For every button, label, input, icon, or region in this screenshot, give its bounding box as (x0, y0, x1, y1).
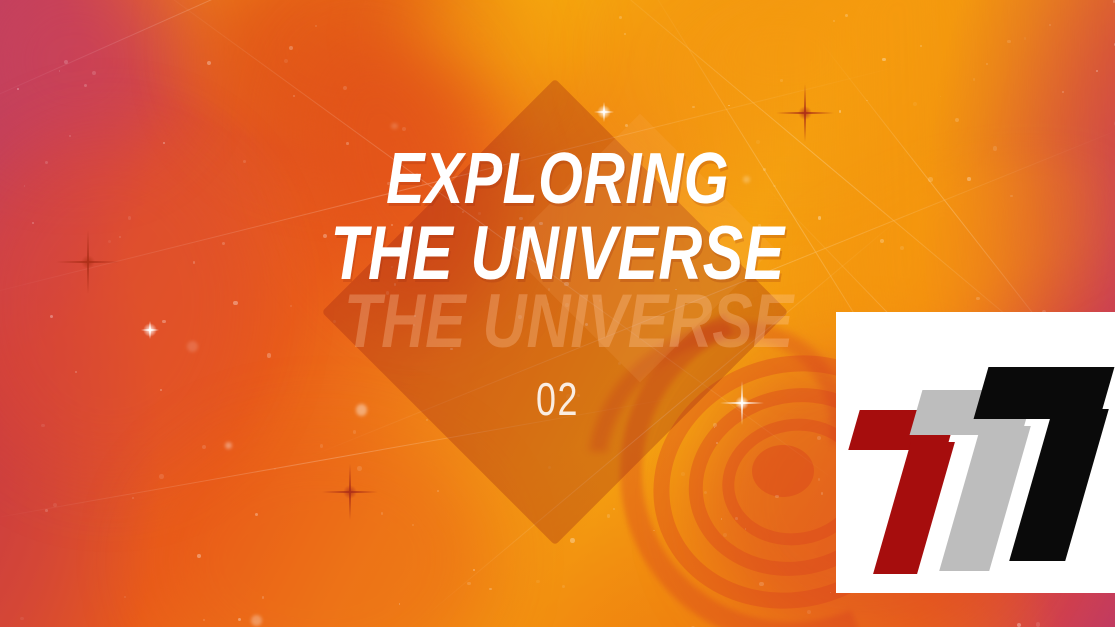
sparkle-light-upper-icon (594, 102, 614, 122)
presentation-slide: THE UNIVERSE EXPLORING THE UNIVERSE 02 (0, 0, 1115, 627)
sparkle-light-center-icon (720, 381, 764, 425)
sparkle-dark-topright-icon (776, 84, 834, 142)
sparkle-dark-left-icon (56, 230, 120, 294)
sparkle-light-left-icon (141, 321, 159, 339)
logo-card[interactable] (836, 312, 1115, 593)
sparkle-dark-bottom-icon (322, 464, 378, 520)
ttt-logo (836, 312, 1115, 593)
